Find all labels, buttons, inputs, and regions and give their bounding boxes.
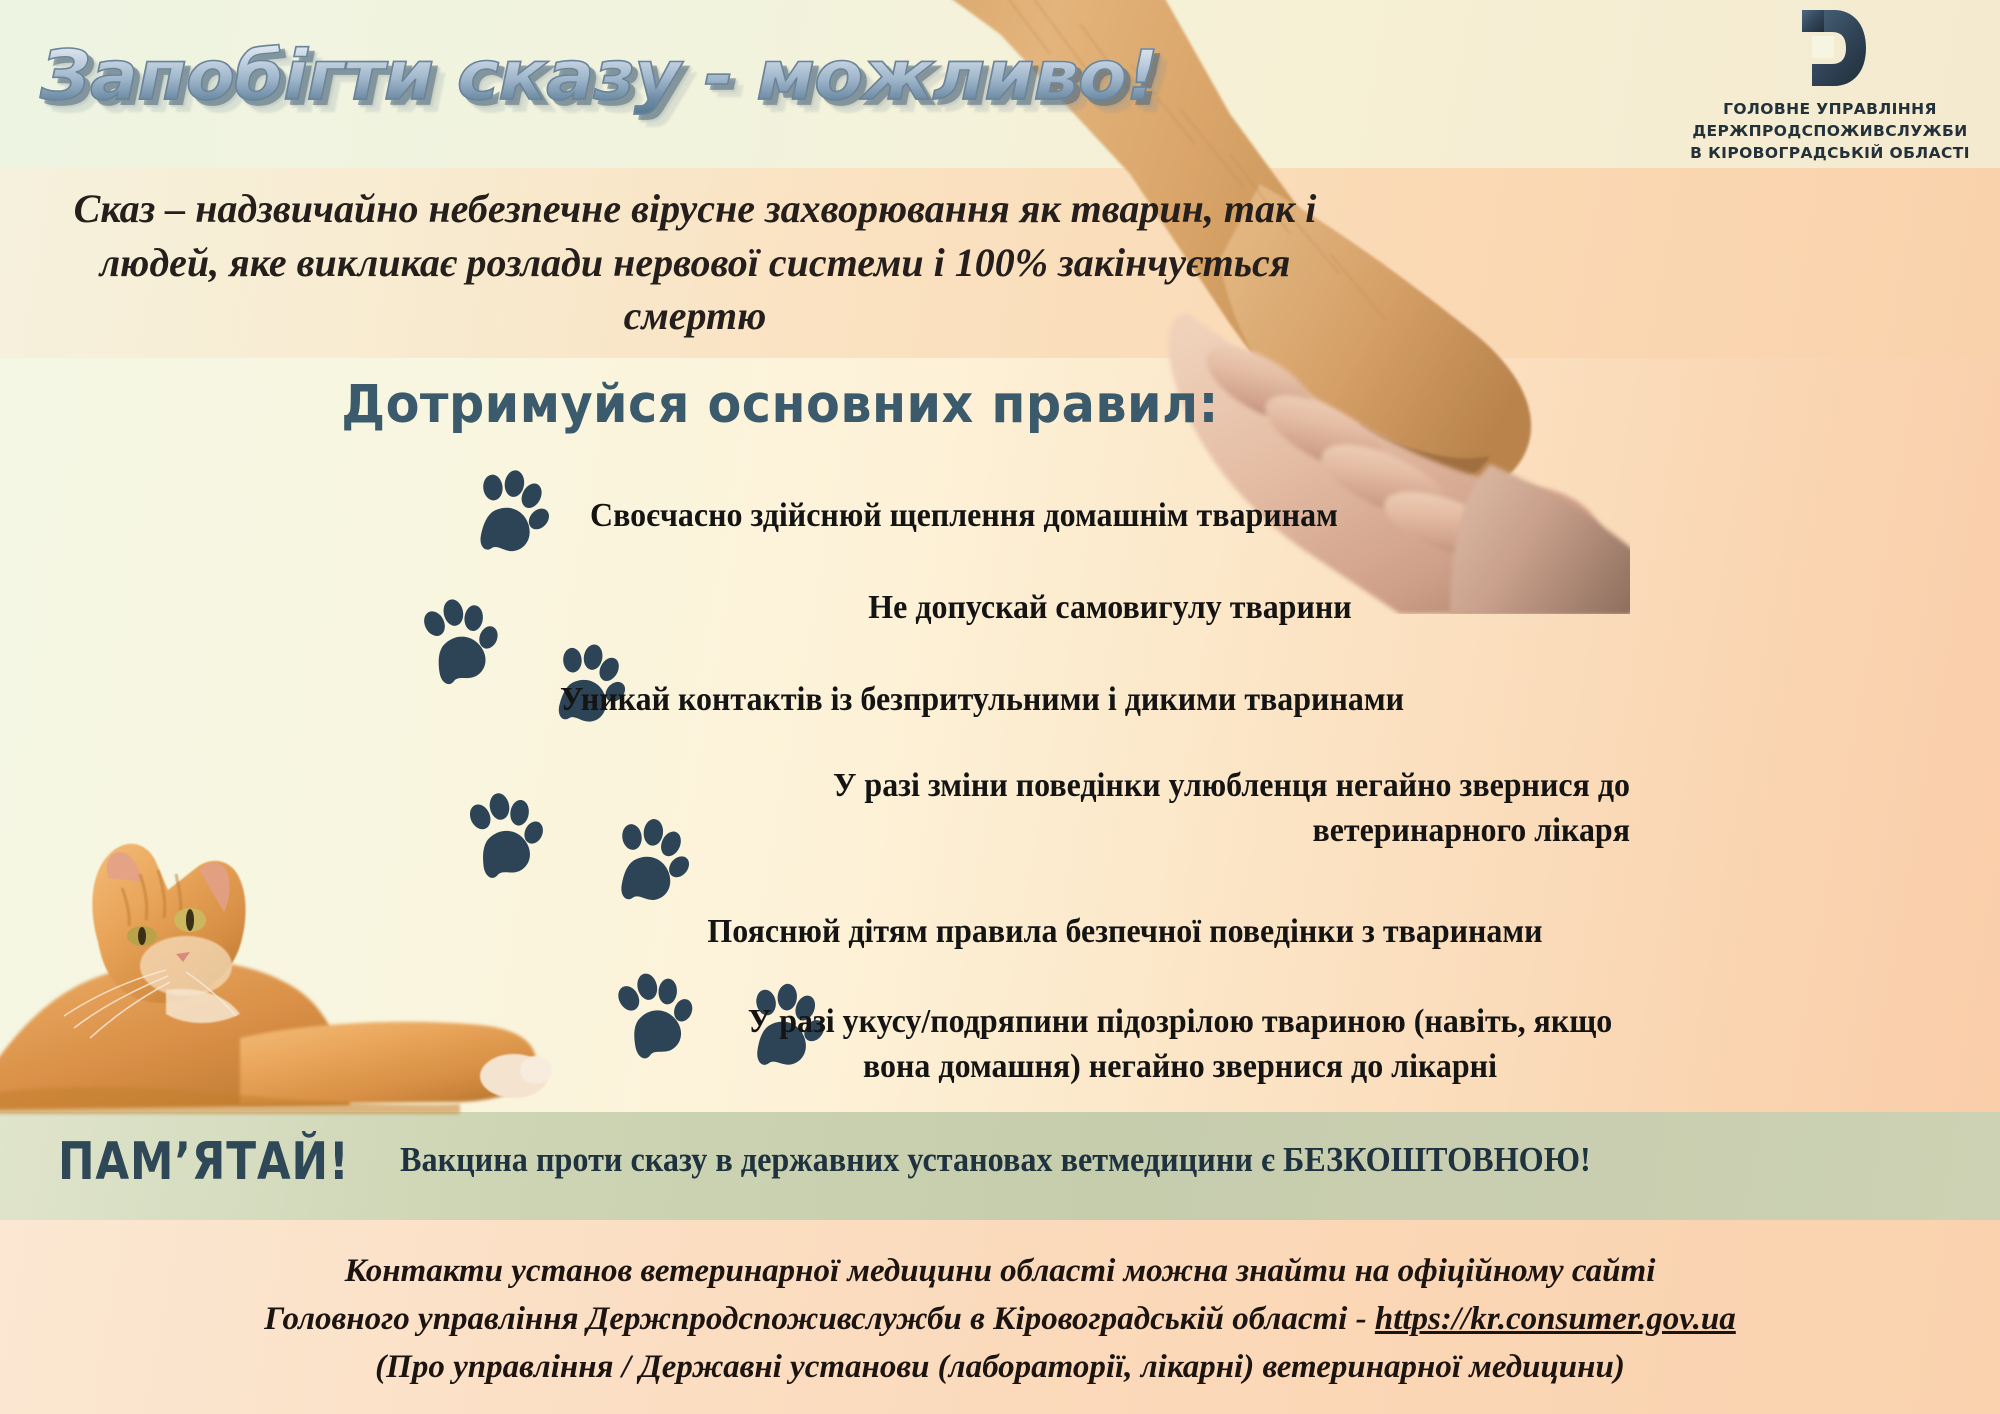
rule-item: У разі укусу/подряпини підозрілою тварин… <box>729 1000 1631 1090</box>
footer-line-1: Контакти установ ветеринарної медицини о… <box>60 1248 1940 1296</box>
footer-line-2-text: Головного управління Держпродспоживслужб… <box>264 1301 1375 1337</box>
remember-text: Вакцина проти сказу в державних установа… <box>400 1140 1844 1180</box>
rule-item: Пояснюй дітям правила безпечної поведінк… <box>632 910 1619 955</box>
rule-item: Не допускай самовигулу тварини <box>631 586 1590 631</box>
paw-print-icon <box>597 963 704 1075</box>
footer-line-3: (Про управління / Державні установи (лаб… <box>60 1344 1940 1392</box>
paw-print-icon <box>404 590 509 699</box>
footer-contacts: Контакти установ ветеринарної медицини о… <box>60 1248 1940 1392</box>
rule-item: Своєчасно здійснюй щеплення домашнім тва… <box>590 494 1558 539</box>
rule-item: Уникай контактів із безпритульними і дик… <box>560 678 1585 723</box>
poster-canvas: Запобігти сказу - можливо! ГОЛОВНЕ УПРАВ… <box>0 0 2000 1414</box>
paw-print-icon <box>592 808 699 920</box>
footer-line-2: Головного управління Держпродспоживслужб… <box>60 1296 1940 1344</box>
paw-print-icon <box>451 457 561 571</box>
paw-print-icon <box>450 785 552 891</box>
consumer-website-link[interactable]: https://kr.consumer.gov.ua <box>1375 1301 1736 1337</box>
page-title: Запобігти сказу - можливо! <box>40 36 1158 116</box>
d-mark-icon <box>1790 8 1870 90</box>
organization-logo: ГОЛОВНЕ УПРАВЛІННЯ ДЕРЖПРОДСПОЖИВСЛУЖБИ … <box>1680 8 1980 164</box>
remember-label: ПАМ’ЯТАЙ! <box>58 1132 350 1192</box>
logo-text: ГОЛОВНЕ УПРАВЛІННЯ ДЕРЖПРОДСПОЖИВСЛУЖБИ … <box>1680 98 1980 164</box>
intro-paragraph: Сказ – надзвичайно небезпечне вірусне за… <box>30 182 1360 343</box>
rules-heading: Дотримуйся основних правил: <box>55 374 1506 435</box>
rule-item: У разі зміни поведінки улюбленця негайно… <box>737 764 1630 854</box>
